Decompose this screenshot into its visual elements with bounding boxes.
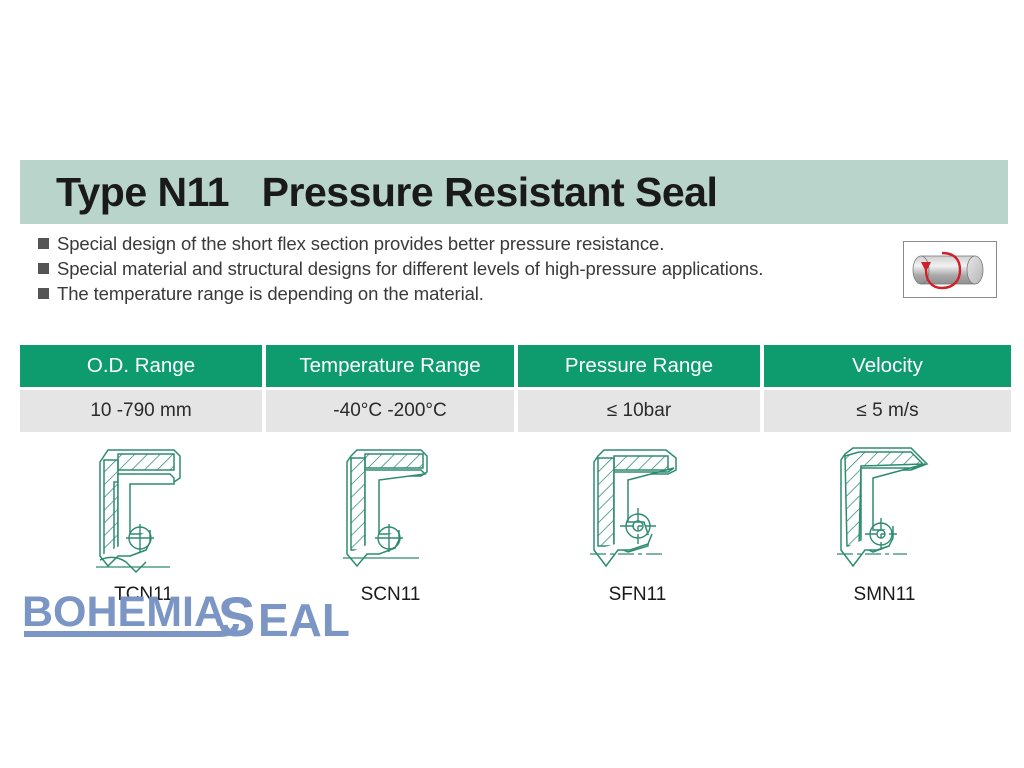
seal-variant-smn11: SMN11 [761, 438, 1008, 606]
feature-text: Special material and structural designs … [57, 257, 763, 281]
feature-text: The temperature range is depending on th… [57, 282, 484, 306]
seal-cross-section-sfn11-icon [568, 438, 708, 578]
seal-label: SMN11 [854, 584, 916, 606]
square-bullet-icon [38, 288, 49, 299]
feature-list: Special design of the short flex section… [38, 232, 878, 307]
seal-variant-scn11: SCN11 [267, 438, 514, 606]
column-header-temperature-range: Temperature Range [266, 345, 514, 387]
seal-label: SCN11 [361, 584, 421, 606]
rotating-shaft-icon [903, 241, 997, 298]
watermark-underline-swoosh [24, 624, 236, 634]
seal-cross-section-tcn11-icon [74, 438, 214, 578]
seal-variant-tcn11: TCN11 [20, 438, 267, 606]
seal-label: TCN11 [114, 584, 173, 606]
title-banner: Type N11 Pressure Resistant Seal [20, 160, 1008, 224]
table-row: 10 -790 mm -40°C -200°C ≤ 10bar ≤ 5 m/s [20, 390, 1007, 432]
value-od-range: 10 -790 mm [20, 390, 262, 432]
seal-label: SFN11 [609, 584, 667, 606]
list-item: The temperature range is depending on th… [38, 282, 878, 306]
table-header-row: O.D. Range Temperature Range Pressure Ra… [20, 345, 1007, 387]
rotating-shaft-svg [904, 242, 996, 297]
list-item: Special design of the short flex section… [38, 232, 878, 256]
seal-cross-section-scn11-icon [321, 438, 461, 578]
seal-variant-gallery: TCN11 SCN11 [20, 438, 1008, 606]
list-item: Special material and structural designs … [38, 257, 878, 281]
column-header-pressure-range: Pressure Range [518, 345, 760, 387]
value-pressure-range: ≤ 10bar [518, 390, 760, 432]
value-temperature-range: -40°C -200°C [266, 390, 514, 432]
value-velocity: ≤ 5 m/s [764, 390, 1011, 432]
column-header-velocity: Velocity [764, 345, 1011, 387]
page-title: Type N11 Pressure Resistant Seal [56, 169, 717, 216]
seal-variant-sfn11: SFN11 [514, 438, 761, 606]
feature-text: Special design of the short flex section… [57, 232, 664, 256]
square-bullet-icon [38, 238, 49, 249]
specification-table: O.D. Range Temperature Range Pressure Ra… [20, 345, 1007, 432]
seal-cross-section-smn11-icon [815, 438, 955, 578]
column-header-od-range: O.D. Range [20, 345, 262, 387]
square-bullet-icon [38, 263, 49, 274]
